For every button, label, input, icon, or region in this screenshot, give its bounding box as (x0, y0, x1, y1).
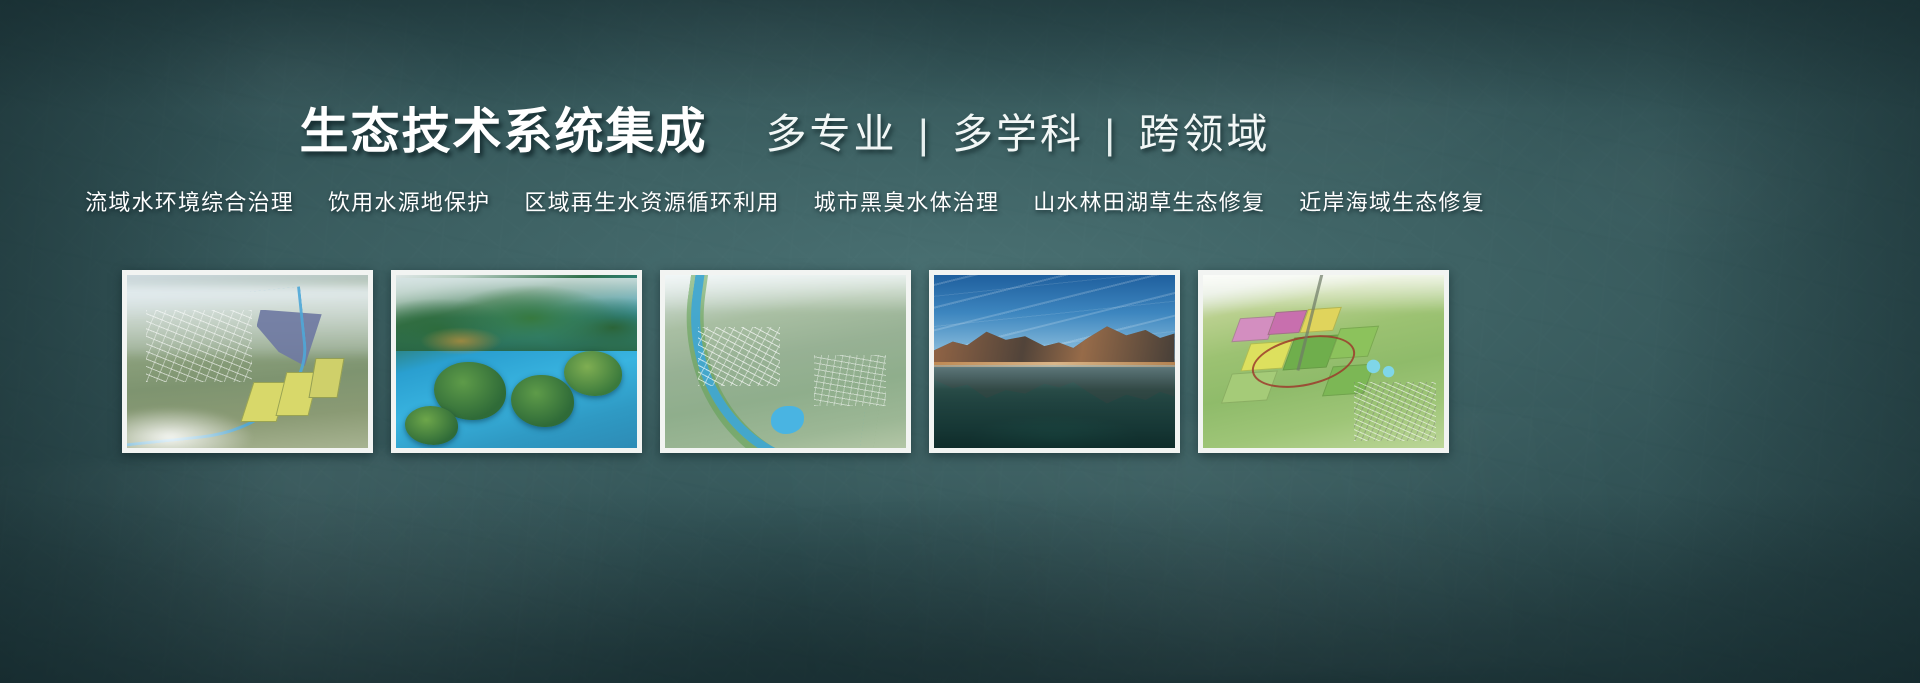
autumn-foliage (420, 327, 502, 355)
subtitle-separator-1: | (912, 111, 938, 157)
aerial-cloud (127, 406, 257, 448)
thumbnail-card-farmland[interactable] (1198, 270, 1449, 453)
thumbnail-card-forest-lake[interactable] (391, 270, 642, 453)
thumb-mountain-lake-image (934, 275, 1175, 448)
thumb-river-basin-image (127, 275, 368, 448)
lake-island (564, 351, 622, 396)
service-category-item: 近岸海域生态修复 (1299, 192, 1485, 214)
corridor-parcel-grid (698, 327, 780, 386)
farmland-village-grid (1354, 382, 1436, 441)
page-title: 生态技术系统集成 (300, 108, 708, 157)
service-category-item: 区域再生水资源循环利用 (524, 192, 779, 214)
aerial-field-parcel (309, 358, 345, 398)
subtitle-separator-2: | (1098, 111, 1124, 157)
ecology-hero-banner: 生态技术系统集成 多专业 | 多学科 | 跨领域 流域水环境综合治理 饮用水源地… (0, 0, 1920, 683)
project-thumbnail-gallery (0, 270, 1570, 453)
farmland-ponds (1362, 358, 1401, 379)
thumb-farmland-image (1203, 275, 1444, 448)
lake-water-surface (934, 365, 1175, 448)
headline-subtitle: 多专业 | 多学科 | 跨领域 (766, 114, 1271, 155)
banner-content: 生态技术系统集成 多专业 | 多学科 | 跨领域 流域水环境综合治理 饮用水源地… (0, 0, 1920, 683)
service-category-item: 饮用水源地保护 (328, 192, 490, 214)
corridor-town-grid (814, 355, 886, 407)
headline-row: 生态技术系统集成 多专业 | 多学科 | 跨领域 (0, 108, 1570, 157)
subtitle-part-1: 多专业 (766, 111, 898, 157)
lake-island (405, 406, 458, 444)
service-category-item: 山水林田湖草生态修复 (1033, 192, 1265, 214)
thumb-river-corridor-image (665, 275, 906, 448)
service-category-item: 城市黑臭水体治理 (814, 192, 1000, 214)
service-category-list: 流域水环境综合治理 饮用水源地保护 区域再生水资源循环利用 城市黑臭水体治理 山… (0, 192, 1570, 214)
thumbnail-card-river-corridor[interactable] (660, 270, 911, 453)
thumbnail-card-river-basin[interactable] (122, 270, 373, 453)
lake-island (511, 375, 574, 427)
subtitle-part-3: 跨领域 (1138, 111, 1270, 157)
thumb-forest-lake-image (396, 275, 637, 448)
service-category-item: 流域水环境综合治理 (85, 192, 294, 214)
subtitle-part-2: 多学科 (952, 111, 1084, 157)
thumbnail-card-mountain-lake[interactable] (929, 270, 1180, 453)
